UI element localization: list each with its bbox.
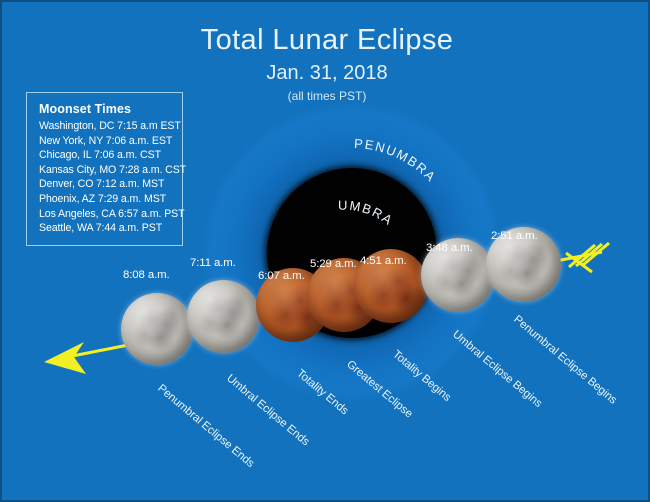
phase-time-0: 8:08 a.m. (123, 269, 170, 281)
moonset-row: Los Angeles, CA 6:57 a.m. PST (39, 207, 172, 222)
page-title: Total Lunar Eclipse (2, 24, 650, 57)
phase-time-3: 5:29 a.m. (310, 258, 357, 270)
phase-time-2: 6:07 a.m. (258, 270, 305, 282)
eclipse-date: Jan. 31, 2018 (2, 62, 650, 85)
phase-event-1: Umbral Eclipse Ends (224, 372, 311, 448)
eclipse-infographic: PENUMBRA UMBRA Total Lunar Eclipse Jan. … (0, 0, 650, 502)
moonset-row: Chicago, IL 7:06 a.m. CST (39, 148, 172, 163)
moon-phase-0 (121, 293, 193, 365)
phase-event-4: Totality Begins (390, 348, 453, 403)
phase-time-4: 4:51 a.m. (360, 255, 407, 267)
moonset-row: Washington, DC 7:15 a.m EST (39, 119, 172, 134)
moonset-times-heading: Moonset Times (39, 102, 172, 116)
arrow-head-left-icon (44, 342, 86, 374)
moonset-row: Seattle, WA 7:44 a.m. PST (39, 221, 172, 236)
moonset-row: Denver, CO 7:12 a.m. MST (39, 177, 172, 192)
phase-time-5: 3:48 a.m. (426, 242, 473, 254)
moon-phase-1 (187, 280, 260, 353)
phase-time-6: 2:51 a.m. (491, 230, 538, 242)
moonset-row: Kansas City, MO 7:28 a.m. CST (39, 163, 172, 178)
phase-event-5: Umbral Eclipse Begins (450, 328, 544, 410)
moonset-row: New York, NY 7:06 a.m. EST (39, 134, 172, 149)
arrow-fletching-right-icon (566, 243, 609, 272)
phase-event-2: Totality Ends (294, 367, 350, 417)
moonset-row: Phoenix, AZ 7:29 a.m. MST (39, 192, 172, 207)
moonset-times-box: Moonset Times Washington, DC 7:15 a.m ES… (26, 92, 183, 246)
phase-time-1: 7:11 a.m. (190, 257, 236, 269)
